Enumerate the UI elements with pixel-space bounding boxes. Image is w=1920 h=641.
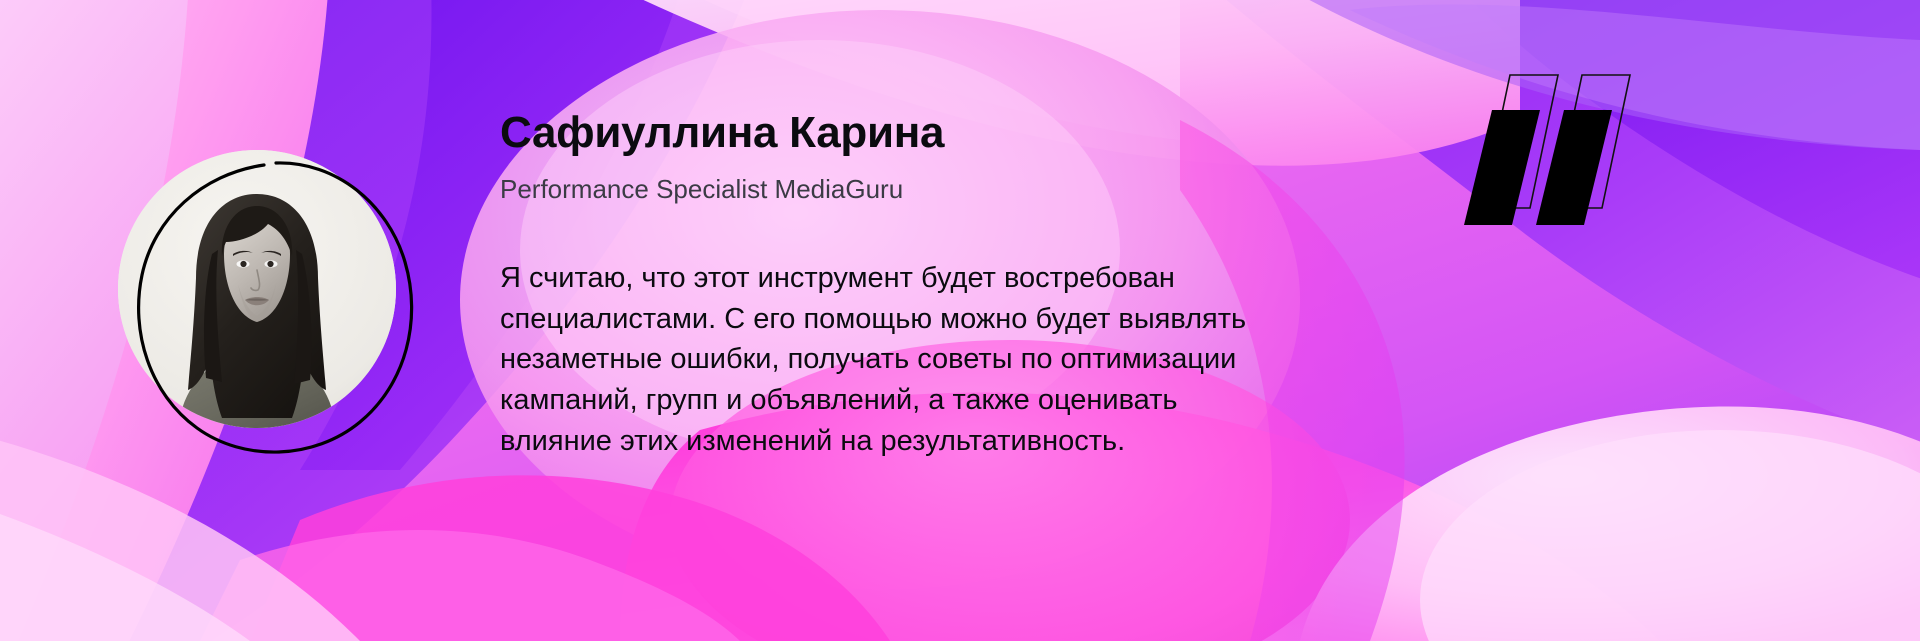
testimonial-text-column: Сафиуллина Карина Performance Specialist… xyxy=(500,110,1500,461)
quote-line: незаметные ошибки, получать советы по оп… xyxy=(500,339,1500,380)
quote-line: Я считаю, что этот инструмент будет вост… xyxy=(500,258,1500,299)
avatar-portrait-image xyxy=(118,150,396,428)
quote-line: кампаний, групп и объявлений, а также оц… xyxy=(500,380,1500,421)
quote-text: Я считаю, что этот инструмент будет вост… xyxy=(500,258,1500,461)
quote-mark-icon xyxy=(1464,70,1664,225)
person-role: Performance Specialist MediaGuru xyxy=(500,175,1500,204)
person-name: Сафиуллина Карина xyxy=(500,110,1500,157)
quote-line: влияние этих изменений на результативнос… xyxy=(500,421,1500,462)
quote-line: специалистами. С его помощью можно будет… xyxy=(500,299,1500,340)
avatar-photo-frame xyxy=(118,150,396,428)
testimonial-banner: Сафиуллина Карина Performance Specialist… xyxy=(0,0,1920,641)
avatar xyxy=(118,150,418,450)
